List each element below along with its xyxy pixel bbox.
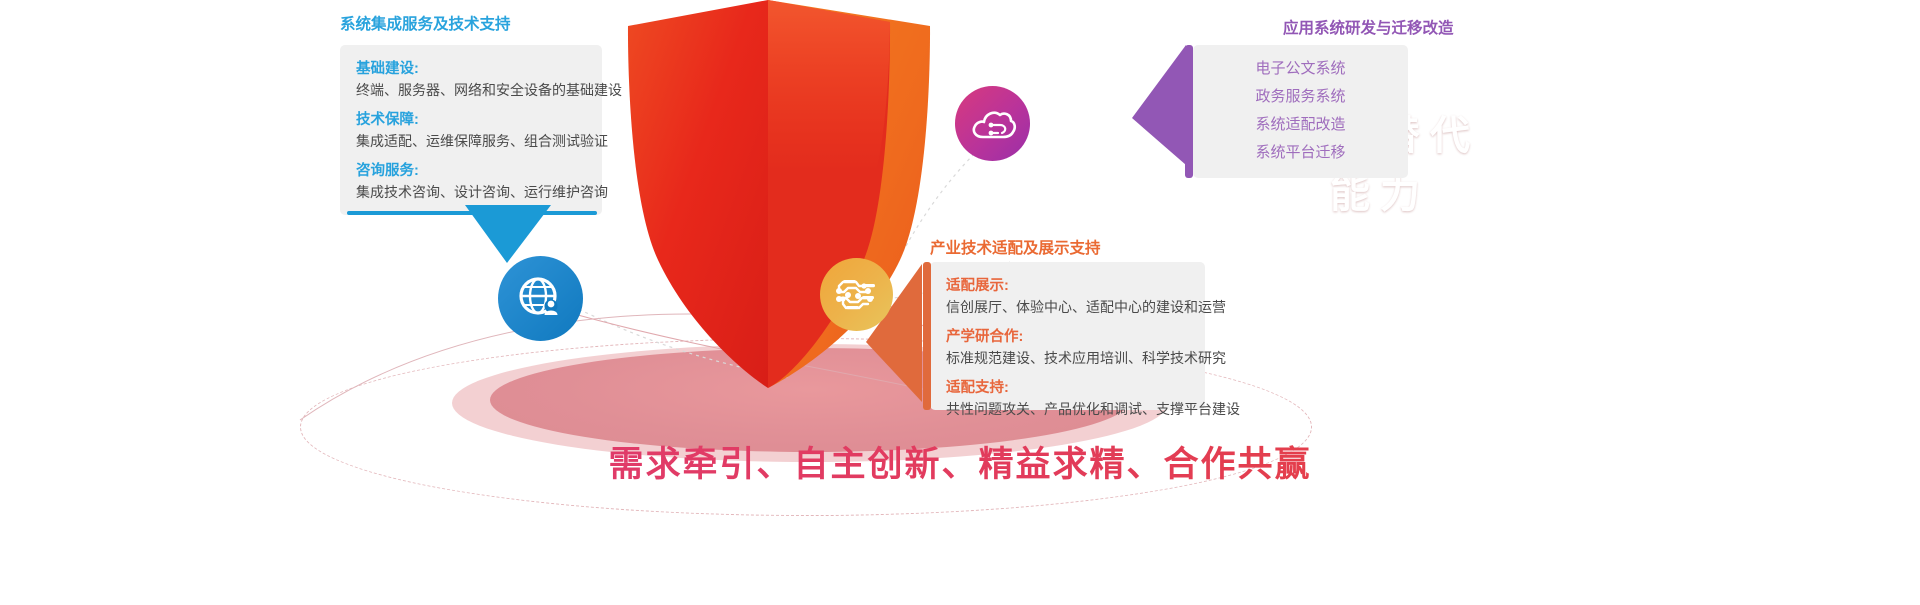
row-text: 集成适配、运维保障服务、组合测试验证 <box>356 131 586 152</box>
orange-panel[interactable]: 适配展示: 信创展厅、体验中心、适配中心的建设和运营 产学研合作: 标准规范建设… <box>930 262 1205 410</box>
row-text: 共性问题攻关、产品优化和调试、支撑平台建设 <box>946 399 1189 420</box>
globe-user-icon[interactable] <box>498 256 583 341</box>
infographic-canvas: 信创替代 能力 系统集成服务及技术支持 基础建设: 终端、服务器、网络和安全设备… <box>0 0 1920 605</box>
row-title: 适配展示: <box>946 276 1189 296</box>
list-item: 基础建设: 终端、服务器、网络和安全设备的基础建设 <box>356 59 586 101</box>
list-item: 适配支持: 共性问题攻关、产品优化和调试、支撑平台建设 <box>946 378 1189 420</box>
row-title: 咨询服务: <box>356 161 586 181</box>
list-item: 技术保障: 集成适配、运维保障服务、组合测试验证 <box>356 110 586 152</box>
cloud-network-icon[interactable] <box>955 86 1030 161</box>
purple-panel[interactable]: 电子公文系统 政务服务系统 系统适配改造 系统平台迁移 <box>1193 45 1408 178</box>
purple-panel-pointer <box>1130 40 1190 170</box>
left-panel[interactable]: 基础建设: 终端、服务器、网络和安全设备的基础建设 技术保障: 集成适配、运维保… <box>340 45 602 215</box>
row-text: 信创展厅、体验中心、适配中心的建设和运营 <box>946 297 1189 318</box>
list-item: 产学研合作: 标准规范建设、技术应用培训、科学技术研究 <box>946 327 1189 369</box>
row-text: 集成技术咨询、设计咨询、运行维护咨询 <box>356 182 586 203</box>
row-title: 适配支持: <box>946 378 1189 398</box>
list-item: 适配展示: 信创展厅、体验中心、适配中心的建设和运营 <box>946 276 1189 318</box>
row-title: 产学研合作: <box>946 327 1189 347</box>
list-item: 电子公文系统 <box>1193 55 1408 83</box>
list-item: 系统适配改造 <box>1193 111 1408 139</box>
left-panel-heading: 系统集成服务及技术支持 <box>340 12 511 34</box>
list-item: 系统平台迁移 <box>1193 139 1408 167</box>
row-title: 基础建设: <box>356 59 586 79</box>
row-text: 标准规范建设、技术应用培训、科学技术研究 <box>946 348 1189 369</box>
circuit-chip-icon[interactable] <box>820 258 893 331</box>
row-text: 终端、服务器、网络和安全设备的基础建设 <box>356 80 586 101</box>
row-title: 技术保障: <box>356 110 586 130</box>
purple-panel-heading: 应用系统研发与迁移改造 <box>1283 16 1454 38</box>
orange-panel-heading: 产业技术适配及展示支持 <box>930 236 1101 258</box>
list-item: 政务服务系统 <box>1193 83 1408 111</box>
tagline: 需求牵引、自主创新、精益求精、合作共赢 <box>0 436 1920 487</box>
list-item: 咨询服务: 集成技术咨询、设计咨询、运行维护咨询 <box>356 161 586 203</box>
